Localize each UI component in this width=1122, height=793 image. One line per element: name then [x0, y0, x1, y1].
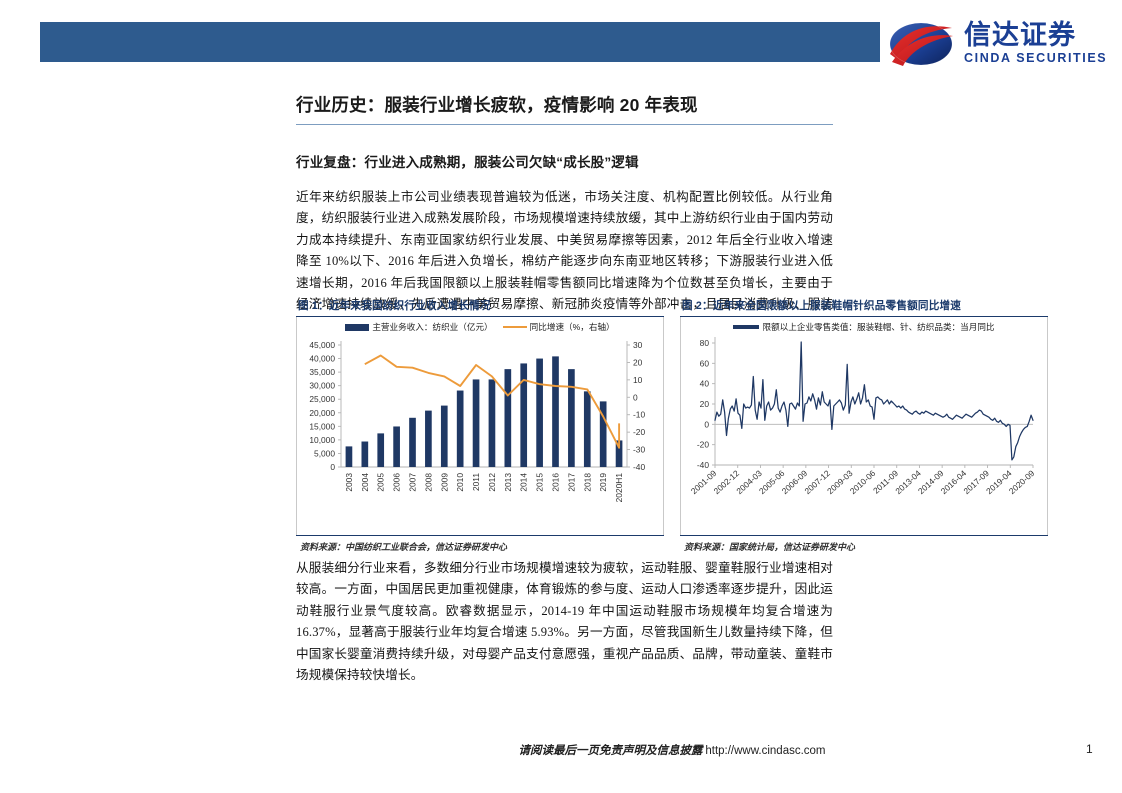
legend-bar-label: 主营业务收入：纺织业（亿元） — [372, 322, 492, 332]
svg-text:2015: 2015 — [535, 473, 545, 492]
svg-text:2009: 2009 — [439, 473, 449, 492]
svg-text:45,000: 45,000 — [309, 340, 335, 350]
lower-text-block: 从服装细分行业来看，多数细分行业市场规模增速较为疲软，运动鞋服、婴童鞋服行业增速… — [296, 558, 833, 686]
logo-chinese-name: 信达证券 — [964, 20, 1114, 50]
svg-text:2018: 2018 — [582, 473, 592, 492]
figure-2-svg: -40-200204060802001-092002-122004-032005… — [681, 317, 1049, 535]
section-title: 行业历史：服装行业增长疲软，疫情影响 20 年表现 — [296, 92, 833, 125]
svg-text:2017: 2017 — [566, 473, 576, 492]
svg-text:2004: 2004 — [360, 473, 370, 492]
svg-text:20: 20 — [633, 357, 643, 367]
svg-text:0: 0 — [633, 392, 638, 402]
figure-1-title: 图 1：近年来我国纺织行业收入增长情况 — [296, 298, 664, 317]
footer-disclaimer-text: 请阅读最后一页免责声明及信息披露 — [518, 745, 702, 757]
svg-text:2006: 2006 — [392, 473, 402, 492]
logo-wordmark: 信达证券 CINDA SECURITIES — [964, 20, 1114, 65]
footer-website-link[interactable]: http://www.cindasc.com — [705, 745, 825, 757]
legend-line-swatch — [733, 325, 759, 329]
legend-line-label: 限额以上企业零售类值：服装鞋帽、针、纺织品类：当月同比 — [762, 322, 994, 332]
svg-text:2016: 2016 — [551, 473, 561, 492]
svg-text:25,000: 25,000 — [309, 394, 335, 404]
svg-text:2020H1: 2020H1 — [614, 473, 624, 503]
svg-text:2005: 2005 — [376, 473, 386, 492]
figure-2-source: 资料来源：国家统计局，信达证券研发中心 — [680, 535, 1048, 553]
svg-text:-20: -20 — [633, 427, 645, 437]
svg-text:-10: -10 — [633, 410, 645, 420]
legend-line-swatch — [503, 326, 527, 329]
figure-1-svg: 05,00010,00015,00020,00025,00030,00035,0… — [297, 317, 665, 535]
svg-text:-20: -20 — [697, 440, 709, 450]
cinda-logo-mark-icon — [886, 20, 956, 68]
svg-text:2007: 2007 — [408, 473, 418, 492]
paragraph-two: 从服装细分行业来看，多数细分行业市场规模增速较为疲软，运动鞋服、婴童鞋服行业增速… — [296, 558, 833, 686]
legend-bar-swatch — [345, 324, 369, 331]
svg-text:0: 0 — [330, 462, 335, 472]
figure-1-source: 资料来源：中国纺织工业联合会，信达证券研发中心 — [296, 535, 664, 553]
svg-text:0: 0 — [704, 419, 709, 429]
svg-text:-40: -40 — [633, 462, 645, 472]
legend-line-label: 同比增速（%，右轴） — [530, 322, 615, 332]
page-number: 1 — [1086, 742, 1093, 756]
svg-text:40,000: 40,000 — [309, 354, 335, 364]
subsection-title: 行业复盘：行业进入成熟期，服装公司欠缺“成长股”逻辑 — [296, 151, 833, 171]
page-footer: 请阅读最后一页免责声明及信息披露 http://www.cindasc.com — [0, 742, 1122, 766]
svg-text:20: 20 — [700, 399, 710, 409]
svg-text:2010: 2010 — [455, 473, 465, 492]
svg-text:2014: 2014 — [519, 473, 529, 492]
header-blue-bar — [40, 22, 880, 62]
figure-1-legend: 主营业务收入：纺织业（亿元）同比增速（%，右轴） — [297, 321, 663, 333]
page-header: 信达证券 CINDA SECURITIES — [0, 0, 1122, 86]
svg-text:-30: -30 — [633, 445, 645, 455]
svg-text:2020-09: 2020-09 — [1007, 468, 1037, 496]
svg-text:80: 80 — [700, 338, 710, 348]
svg-text:2003: 2003 — [344, 473, 354, 492]
svg-text:15,000: 15,000 — [309, 421, 335, 431]
svg-text:40: 40 — [700, 379, 710, 389]
company-logo: 信达证券 CINDA SECURITIES — [886, 14, 1111, 76]
svg-text:30: 30 — [633, 340, 643, 350]
svg-text:10: 10 — [633, 375, 643, 385]
svg-text:35,000: 35,000 — [309, 367, 335, 377]
footer-note: 请阅读最后一页免责声明及信息披露 http://www.cindasc.com — [296, 742, 1048, 758]
svg-text:60: 60 — [700, 358, 710, 368]
svg-text:10,000: 10,000 — [309, 435, 335, 445]
svg-text:-40: -40 — [697, 460, 709, 470]
figure-1: 图 1：近年来我国纺织行业收入增长情况 主营业务收入：纺织业（亿元）同比增速（%… — [296, 298, 664, 563]
logo-english-name: CINDA SECURITIES — [964, 51, 1114, 65]
svg-text:2011: 2011 — [471, 473, 481, 491]
figure-1-plot: 主营业务收入：纺织业（亿元）同比增速（%，右轴） 05,00010,00015,… — [296, 317, 664, 535]
figures-row: 图 1：近年来我国纺织行业收入增长情况 主营业务收入：纺织业（亿元）同比增速（%… — [296, 298, 1048, 563]
svg-text:2008: 2008 — [423, 473, 433, 492]
figure-2-plot: 限额以上企业零售类值：服装鞋帽、针、纺织品类：当月同比 -40-20020406… — [680, 317, 1048, 535]
figure-2-title: 图 2：近年来全国限额以上服装鞋帽针织品零售额同比增速 — [680, 298, 1048, 317]
svg-text:30,000: 30,000 — [309, 381, 335, 391]
figure-2-legend: 限额以上企业零售类值：服装鞋帽、针、纺织品类：当月同比 — [681, 321, 1047, 333]
svg-text:2019: 2019 — [598, 473, 608, 492]
figure-2: 图 2：近年来全国限额以上服装鞋帽针织品零售额同比增速 限额以上企业零售类值：服… — [680, 298, 1048, 563]
svg-text:20,000: 20,000 — [309, 408, 335, 418]
svg-text:2012: 2012 — [487, 473, 497, 492]
svg-text:2013: 2013 — [503, 473, 513, 492]
svg-text:5,000: 5,000 — [314, 448, 335, 458]
